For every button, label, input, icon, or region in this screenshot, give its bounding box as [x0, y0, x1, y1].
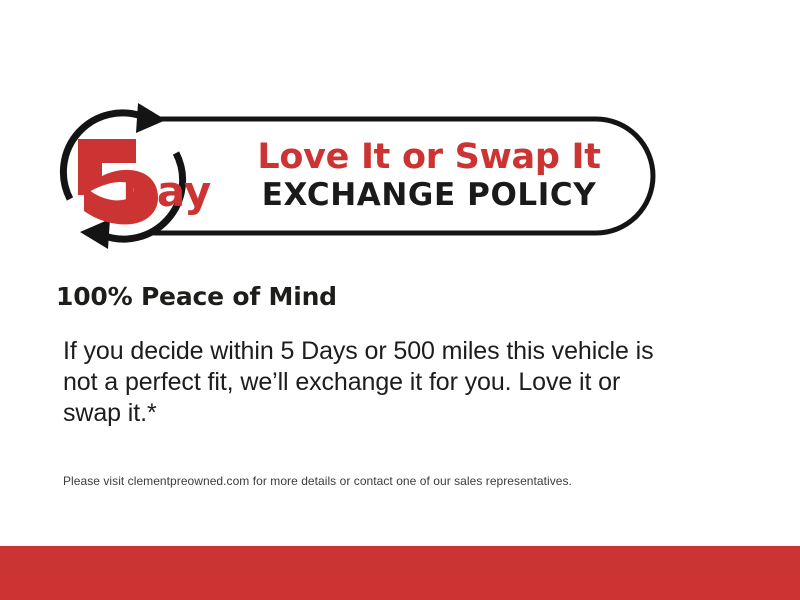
day-wordmark: Day — [122, 167, 211, 216]
fineprint-disclaimer: Please visit clementpreowned.com for mor… — [63, 474, 572, 490]
badge-headline: Love It or Swap It — [257, 139, 600, 175]
exchange-policy-badge: Day Love It or Swap It EXCHANGE POLICY — [48, 100, 658, 252]
badge-text-block: Love It or Swap It EXCHANGE POLICY — [200, 118, 658, 234]
peace-of-mind-heading: 100% Peace of Mind — [56, 283, 337, 311]
badge-subheadline: EXCHANGE POLICY — [262, 178, 597, 213]
policy-description: If you decide within 5 Days or 500 miles… — [63, 336, 683, 429]
promo-card: Day Love It or Swap It EXCHANGE POLICY 1… — [0, 0, 800, 600]
bottom-accent-bar — [0, 546, 800, 600]
